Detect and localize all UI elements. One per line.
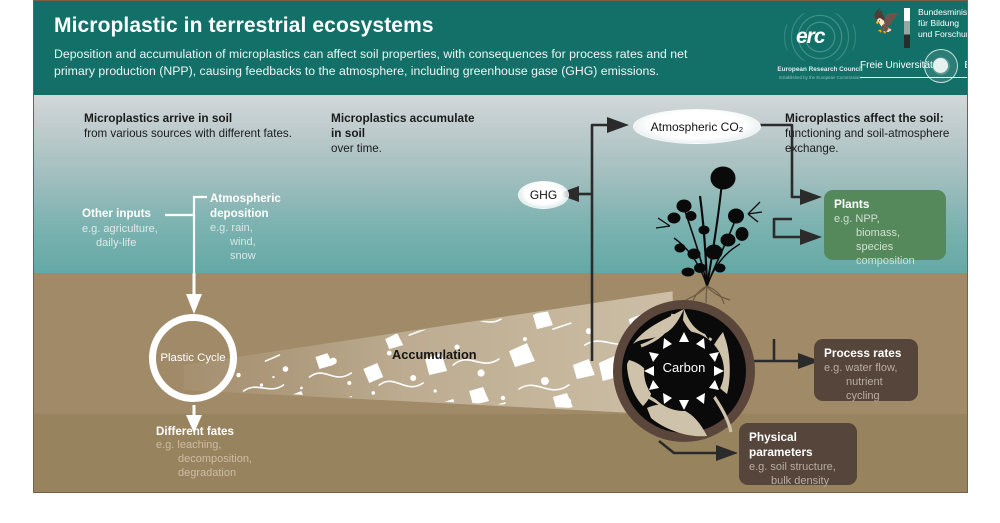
arrow-carbon-to-co2 [592,125,609,361]
physical-parameters-heading: Physical parameters [749,430,847,460]
plants-line1: e.g. NPP, [834,212,936,226]
plastic-cycle-circle[interactable]: Plastic Cycle [149,314,237,402]
carbon-circle[interactable]: Carbon [611,298,757,444]
process-rates-line2: nutrient cycling [824,375,908,403]
box-process-rates[interactable]: Process rates e.g. water flow, nutrient … [814,339,918,401]
process-rates-line1: e.g. water flow, [824,361,908,375]
arrowhead-physical-parameters [716,445,738,461]
arrowhead-plants-2 [800,229,822,245]
node-ghg[interactable]: GHG [518,181,569,209]
different-fates-line3: degradation [156,466,276,480]
arrowhead-plants-1 [800,189,822,205]
box-physical-parameters[interactable]: Physical parameters e.g. soil structure,… [739,423,857,485]
infographic-figure: Microplastic in terrestrial ecosystems D… [33,0,968,493]
different-fates-line1: e.g. leaching, [156,438,276,452]
arrow-plants-secondary [774,219,802,237]
label-different-fates: Different fates e.g. leaching, decomposi… [156,425,276,480]
plastic-cycle-label: Plastic Cycle [160,352,225,364]
arrow-co2-to-plants [760,125,802,197]
plants-line2: biomass, [834,226,936,240]
plants-heading: Plants [834,197,936,212]
different-fates-heading: Different fates [156,425,276,438]
carbon-label: Carbon [611,360,757,375]
physical-parameters-line2: bulk density [749,474,847,488]
different-fates-line2: decomposition, [156,452,276,466]
physical-parameters-line1: e.g. soil structure, [749,460,847,474]
accumulation-label: Accumulation [392,347,477,362]
node-atmospheric-co2[interactable]: Atmospheric CO₂ [633,109,761,144]
arrowhead-co2 [607,117,629,133]
process-rates-heading: Process rates [824,346,908,361]
box-plants[interactable]: Plants e.g. NPP, biomass, species compos… [824,190,946,260]
plants-line3: species composition [834,240,936,268]
